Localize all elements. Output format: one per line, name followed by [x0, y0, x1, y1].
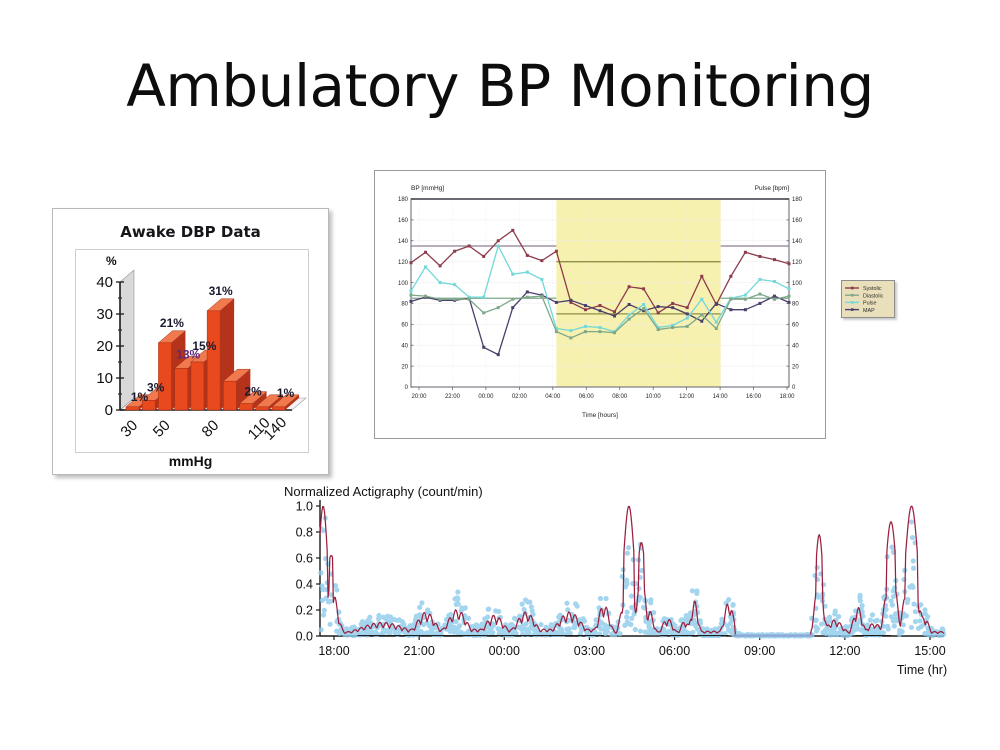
act-data-point — [731, 602, 736, 607]
histogram-y-tick-label: 40 — [96, 274, 113, 291]
bp-data-point — [410, 289, 413, 292]
act-data-point — [319, 527, 324, 532]
bp-data-point — [599, 304, 602, 307]
bp-data-point — [453, 283, 456, 286]
act-data-point — [909, 519, 914, 524]
bp-data-point — [584, 330, 587, 333]
bp-data-point — [628, 285, 631, 288]
bp-y2-tick-label: 100 — [792, 281, 803, 287]
slide-canvas: Ambulatory BP Monitoring Awake DBP Data … — [0, 0, 1000, 750]
act-data-point — [385, 614, 390, 619]
act-data-point — [599, 620, 604, 625]
histogram-data-label: 3% — [147, 380, 165, 394]
bp-data-point — [715, 302, 718, 305]
bp-data-point — [773, 258, 776, 261]
act-data-point — [520, 623, 525, 628]
act-data-point — [529, 604, 534, 609]
bp-data-point — [744, 308, 747, 311]
act-data-point — [461, 606, 466, 611]
bp-data-point — [439, 281, 442, 284]
bp-data-point — [482, 346, 485, 349]
bp-data-point — [540, 278, 543, 281]
bp-data-point — [788, 287, 791, 290]
act-data-point — [852, 627, 857, 632]
act-data-point — [538, 622, 543, 627]
page-title: Ambulatory BP Monitoring — [0, 52, 1000, 120]
actigraphy-svg: Normalized Actigraphy (count/min)0.00.20… — [272, 484, 962, 684]
histogram-data-label: 2% — [244, 385, 262, 399]
histogram-data-label: 31% — [209, 284, 233, 298]
act-data-point — [361, 620, 366, 625]
act-data-point — [901, 622, 906, 627]
bp-y-tick-label: 80 — [401, 302, 408, 308]
act-data-point — [524, 628, 529, 633]
bp-y2-tick-label: 160 — [792, 218, 803, 224]
act-data-point — [877, 630, 882, 635]
act-data-point — [893, 611, 898, 616]
act-data-point — [814, 629, 819, 634]
act-data-point — [633, 627, 638, 632]
act-data-point — [455, 596, 460, 601]
histogram-bar — [191, 362, 204, 410]
act-data-point — [812, 573, 817, 578]
histogram-x-tick-label: 30 — [117, 417, 141, 441]
histogram-data-label: 1% — [277, 386, 295, 400]
act-data-point — [910, 535, 915, 540]
act-data-point — [911, 558, 916, 563]
bp-data-point — [526, 271, 529, 274]
act-data-point — [598, 626, 603, 631]
bp-data-point — [468, 298, 471, 301]
legend-label-map: MAP — [863, 308, 875, 314]
bp-y2-tick-label: 120 — [792, 260, 803, 266]
act-data-point — [889, 614, 894, 619]
bp-data-point — [482, 255, 485, 258]
act-data-point — [913, 619, 918, 624]
act-data-point — [400, 619, 405, 624]
act-data-point — [821, 582, 826, 587]
histogram-bar — [126, 407, 139, 410]
act-data-point — [457, 623, 462, 628]
bp-data-point — [497, 306, 500, 309]
act-data-point — [549, 622, 554, 627]
bp-data-point — [729, 275, 732, 278]
bp-data-point — [642, 307, 645, 310]
bp-data-point — [686, 325, 689, 328]
bp-data-point — [788, 262, 791, 265]
abpm-legend: SystolicDiastolicPulseMAP — [841, 280, 895, 318]
act-x-tick-label: 00:00 — [489, 644, 520, 658]
bp-x-tick-label: 12:00 — [679, 394, 695, 400]
bp-data-point — [686, 306, 689, 309]
act-data-point — [911, 601, 916, 606]
act-y-tick-label: 0.8 — [296, 526, 313, 540]
act-data-point — [690, 588, 695, 593]
act-data-point — [882, 607, 887, 612]
histogram-bar — [175, 368, 188, 410]
bp-data-point — [773, 295, 776, 298]
act-data-point — [419, 600, 424, 605]
act-data-point — [554, 630, 559, 635]
histogram-y-tick-label: 20 — [96, 338, 113, 355]
histogram-data-label: 15% — [192, 339, 216, 353]
bp-data-point — [569, 299, 572, 302]
act-data-point — [581, 616, 586, 621]
act-data-point — [456, 601, 461, 606]
histogram-x-tick-label: 50 — [150, 417, 174, 441]
act-y-tick-label: 0.0 — [296, 630, 313, 644]
histogram-x-tick-label: 80 — [199, 417, 223, 441]
bp-data-point — [410, 300, 413, 303]
bp-x-tick-label: 00:00 — [478, 394, 494, 400]
act-data-point — [591, 632, 596, 637]
act-data-point — [328, 599, 333, 604]
bp-data-point — [671, 326, 674, 329]
bp-data-point — [599, 309, 602, 312]
bp-y-tick-label: 20 — [401, 364, 408, 370]
bp-data-point — [584, 304, 587, 307]
bp-x-tick-label: 02:00 — [512, 394, 528, 400]
act-data-point — [697, 632, 702, 637]
bp-data-point — [773, 298, 776, 301]
act-data-point — [629, 593, 634, 598]
act-data-point — [827, 615, 832, 620]
awake-dbp-plot-area: % 0102030401%3%21%13%15%31%2%1%305080110… — [75, 249, 309, 453]
act-data-point — [527, 599, 532, 604]
act-data-point — [844, 633, 849, 638]
act-data-point — [873, 619, 878, 624]
act-y-tick-label: 0.2 — [296, 604, 313, 618]
act-data-point — [883, 614, 888, 619]
bp-data-point — [773, 280, 776, 283]
bp-data-point — [758, 302, 761, 305]
bp-data-point — [584, 308, 587, 311]
bp-data-point — [613, 314, 616, 317]
act-data-point — [870, 612, 875, 617]
bp-x-tick-label: 08:00 — [612, 394, 628, 400]
bp-data-point — [715, 327, 718, 330]
bp-data-point — [526, 254, 529, 257]
act-data-point — [454, 619, 459, 624]
act-data-point — [918, 618, 923, 623]
bp-data-point — [686, 317, 689, 320]
act-data-point — [455, 589, 460, 594]
act-data-point — [320, 587, 325, 592]
bp-data-point — [482, 311, 485, 314]
act-data-point — [488, 630, 493, 635]
act-data-point — [836, 614, 841, 619]
bp-data-point — [569, 329, 572, 332]
act-x-tick-label: 06:00 — [659, 644, 690, 658]
act-y-tick-label: 1.0 — [296, 500, 313, 514]
act-data-point — [909, 625, 914, 630]
abpm-legend-svg: SystolicDiastolicPulseMAP — [842, 281, 894, 317]
act-data-point — [690, 630, 695, 635]
bp-data-point — [511, 306, 514, 309]
act-data-point — [318, 570, 323, 575]
actigraphy-panel: Normalized Actigraphy (count/min)0.00.20… — [272, 484, 962, 684]
bp-data-point — [439, 298, 442, 301]
bp-data-point — [526, 290, 529, 293]
act-data-point — [603, 596, 608, 601]
bp-x-tick-label: 20:00 — [411, 394, 427, 400]
bp-data-point — [424, 265, 427, 268]
bp-data-point — [482, 296, 485, 299]
bp-data-point — [715, 321, 718, 324]
bp-data-point — [758, 255, 761, 258]
legend-marker — [851, 294, 854, 297]
act-data-point — [522, 607, 527, 612]
bp-data-point — [569, 336, 572, 339]
act-x-tick-label: 03:00 — [574, 644, 605, 658]
act-data-point — [680, 628, 685, 633]
bp-data-point — [642, 287, 645, 290]
act-data-point — [648, 600, 653, 605]
act-data-point — [485, 614, 490, 619]
act-x-tick-label: 21:00 — [404, 644, 435, 658]
act-data-point — [833, 608, 838, 613]
histogram-y-tick-label: 10 — [96, 370, 113, 387]
bp-data-point — [468, 245, 471, 248]
bp-data-point — [599, 326, 602, 329]
awake-dbp-svg: 0102030401%3%21%13%15%31%2%1%30508011014… — [76, 250, 308, 452]
histogram-y-tick-label: 0 — [105, 402, 113, 419]
bp-data-point — [555, 250, 558, 253]
bp-data-point — [453, 250, 456, 253]
bp-data-point — [511, 229, 514, 232]
act-x-tick-label: 12:00 — [829, 644, 860, 658]
bp-data-point — [657, 305, 660, 308]
bp-data-point — [599, 330, 602, 333]
bp-data-point — [657, 328, 660, 331]
bp-data-point — [700, 275, 703, 278]
act-data-point — [376, 613, 381, 618]
bp-data-point — [700, 313, 703, 316]
bp-x-tick-label: 16:00 — [746, 394, 762, 400]
histogram-y-tick-label: 30 — [96, 306, 113, 323]
bp-x-tick-label: 06:00 — [579, 394, 595, 400]
bp-x-tick-label: 18:00 — [779, 394, 795, 400]
act-data-point — [408, 623, 413, 628]
act-data-point — [471, 624, 476, 629]
act-data-point — [559, 627, 564, 632]
bp-y-axis-label: BP [mmHg] — [411, 185, 444, 192]
bp-data-point — [758, 293, 761, 296]
bp-y2-tick-label: 20 — [792, 364, 799, 370]
bp-data-point — [642, 303, 645, 306]
bp-data-point — [424, 295, 427, 298]
bp-data-point — [613, 310, 616, 313]
act-x-tick-label: 09:00 — [744, 644, 775, 658]
act-data-point — [417, 605, 422, 610]
act-data-point — [631, 557, 636, 562]
act-data-point — [889, 598, 894, 603]
legend-marker — [851, 308, 854, 311]
histogram-bar — [158, 343, 171, 410]
act-data-point — [629, 616, 634, 621]
bp-data-point — [555, 301, 558, 304]
act-data-point — [897, 630, 902, 635]
bp-data-point — [729, 298, 732, 301]
bp-y-tick-label: 160 — [398, 218, 409, 224]
bp-data-point — [497, 245, 500, 248]
act-data-point — [598, 596, 603, 601]
act-data-point — [561, 632, 566, 637]
bp-y-tick-label: 120 — [398, 260, 409, 266]
histogram-bar — [272, 407, 285, 410]
act-x-tick-label: 18:00 — [318, 644, 349, 658]
bp-data-point — [526, 296, 529, 299]
awake-dbp-panel: Awake DBP Data % 0102030401%3%21%13%15%3… — [52, 208, 329, 475]
bp-y-tick-label: 100 — [398, 281, 409, 287]
abpm-trend-svg: BP [mmHg]Pulse [bpm]Time [hours]00202040… — [375, 171, 825, 438]
bp-y2-tick-label: 40 — [792, 343, 799, 349]
histogram-bar — [240, 404, 253, 410]
act-data-point — [367, 615, 372, 620]
act-data-point — [624, 578, 629, 583]
act-data-point — [646, 623, 651, 628]
bp-data-point — [540, 295, 543, 298]
act-data-point — [911, 566, 916, 571]
act-data-point — [556, 615, 561, 620]
bp-x-axis-label: Time [hours] — [582, 412, 618, 419]
act-data-point — [384, 629, 389, 634]
act-data-point — [694, 591, 699, 596]
act-data-point — [820, 630, 825, 635]
act-data-point — [319, 627, 324, 632]
act-data-point — [625, 620, 630, 625]
act-y-tick-label: 0.6 — [296, 552, 313, 566]
bp-data-point — [744, 251, 747, 254]
act-data-point — [486, 606, 491, 611]
act-data-point — [904, 613, 909, 618]
act-data-point — [322, 608, 327, 613]
act-x-tick-label: 15:00 — [914, 644, 945, 658]
act-data-point — [854, 622, 859, 627]
act-data-point — [891, 588, 896, 593]
actigraphy-title: Normalized Actigraphy (count/min) — [284, 484, 483, 499]
bp-y2-axis-label: Pulse [bpm] — [755, 185, 790, 192]
act-data-point — [625, 551, 630, 556]
histogram-data-label: 1% — [131, 390, 149, 404]
bp-y-tick-label: 40 — [401, 343, 408, 349]
act-data-point — [424, 630, 429, 635]
act-data-point — [565, 607, 570, 612]
bp-x-tick-label: 04:00 — [545, 394, 561, 400]
legend-marker — [851, 301, 854, 304]
act-data-point — [909, 583, 914, 588]
act-data-point — [886, 626, 891, 631]
bp-data-point — [729, 308, 732, 311]
act-data-point — [366, 630, 371, 635]
act-data-point — [916, 626, 921, 631]
act-data-point — [889, 545, 894, 550]
act-data-point — [905, 597, 910, 602]
abpm-trend-panel: BP [mmHg]Pulse [bpm]Time [hours]00202040… — [374, 170, 826, 439]
bp-data-point — [410, 294, 413, 297]
act-data-point — [429, 630, 434, 635]
bp-data-point — [744, 298, 747, 301]
bp-data-point — [424, 251, 427, 254]
bp-data-point — [686, 312, 689, 315]
act-data-point — [392, 617, 397, 622]
bp-data-point — [453, 298, 456, 301]
act-data-point — [625, 610, 630, 615]
act-data-point — [913, 609, 918, 614]
bp-data-point — [497, 353, 500, 356]
bp-data-point — [613, 331, 616, 334]
act-data-point — [815, 565, 820, 570]
act-data-point — [321, 612, 326, 617]
bp-data-point — [700, 320, 703, 323]
bp-x-tick-label: 14:00 — [713, 394, 729, 400]
act-data-point — [344, 626, 349, 631]
bp-night-band — [556, 199, 720, 387]
bp-data-point — [628, 318, 631, 321]
act-data-point — [624, 614, 629, 619]
act-data-point — [726, 597, 731, 602]
act-data-point — [566, 626, 571, 631]
bp-data-point — [744, 294, 747, 297]
bp-data-point — [540, 259, 543, 262]
legend-label-systolic: Systolic — [863, 286, 882, 292]
bp-x-tick-label: 10:00 — [646, 394, 662, 400]
bp-y-tick-label: 60 — [401, 323, 408, 329]
act-data-point — [352, 633, 357, 638]
bp-y2-tick-label: 60 — [792, 323, 799, 329]
bp-data-point — [628, 313, 631, 316]
bp-x-tick-label: 22:00 — [445, 394, 461, 400]
act-data-point — [496, 609, 501, 614]
bp-data-point — [671, 306, 674, 309]
act-data-point — [636, 586, 641, 591]
legend-label-diastolic: Diastolic — [863, 293, 884, 299]
act-x-axis-label: Time (hr) — [897, 663, 947, 677]
act-data-point — [509, 622, 514, 627]
act-data-point — [452, 630, 457, 635]
act-data-point — [892, 623, 897, 628]
bp-data-point — [758, 278, 761, 281]
bp-data-point — [511, 273, 514, 276]
awake-dbp-xlabel: mmHg — [53, 453, 328, 469]
bp-data-point — [511, 298, 514, 301]
bp-data-point — [700, 298, 703, 301]
act-data-point — [575, 604, 580, 609]
histogram-bar — [223, 381, 236, 410]
bp-data-point — [671, 302, 674, 305]
bp-data-point — [497, 239, 500, 242]
bp-data-point — [439, 264, 442, 267]
act-data-point — [857, 595, 862, 600]
histogram-bar — [256, 407, 269, 410]
bp-data-point — [584, 325, 587, 328]
act-data-point — [434, 632, 439, 637]
legend-label-pulse: Pulse — [863, 301, 877, 307]
legend-marker — [851, 287, 854, 290]
bp-data-point — [555, 330, 558, 333]
bp-y2-tick-label: 180 — [792, 197, 803, 203]
act-data-point — [638, 629, 643, 634]
histogram-data-label: 21% — [160, 316, 184, 330]
bp-data-point — [628, 303, 631, 306]
act-data-point — [828, 632, 833, 637]
bp-data-point — [657, 311, 660, 314]
act-y-tick-label: 0.4 — [296, 578, 313, 592]
act-data-point — [501, 629, 506, 634]
histogram-bar — [207, 311, 220, 410]
act-data-point — [645, 630, 650, 635]
bp-y2-tick-label: 140 — [792, 239, 803, 245]
